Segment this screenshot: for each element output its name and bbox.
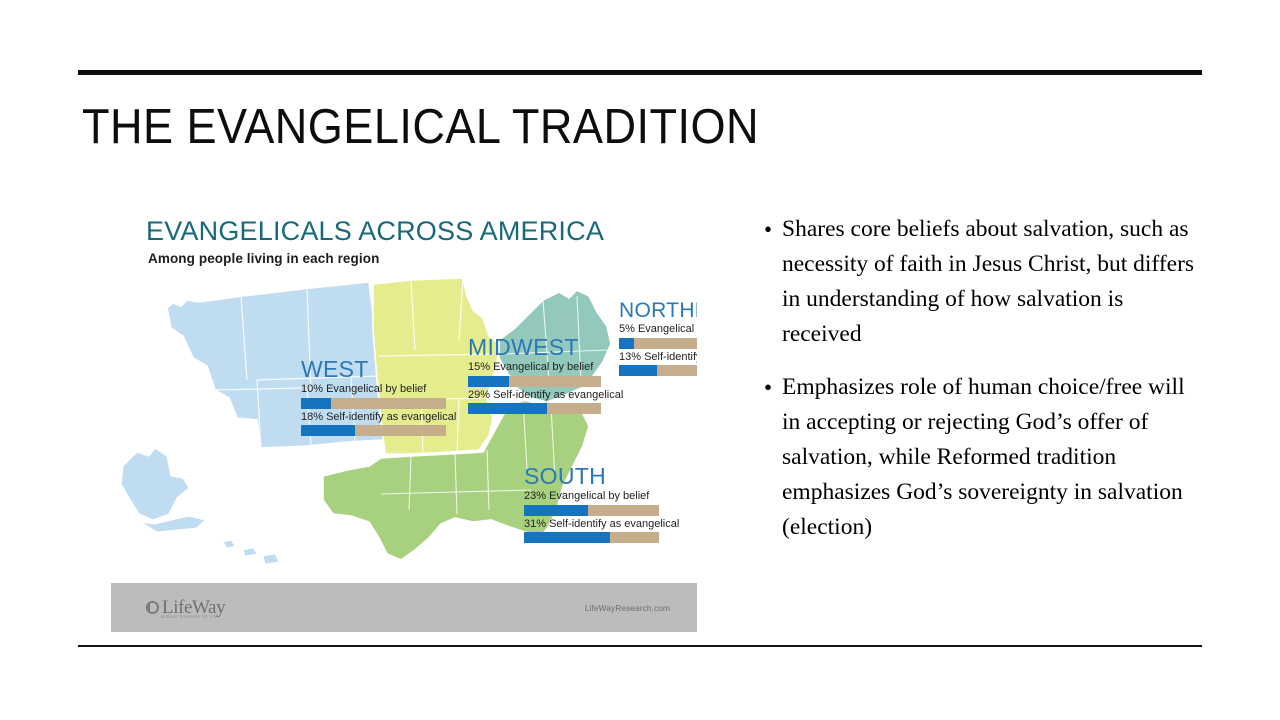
- lifeway-globe-icon: [146, 601, 159, 614]
- region-callout-west: WEST 10% Evangelical by belief 18% Self-…: [301, 358, 456, 436]
- region-name-northeast: NORTHEAST: [619, 300, 697, 321]
- region-west-stat-1-bar: [301, 425, 446, 436]
- lifeway-research-url: LifeWayResearch.com: [585, 603, 670, 613]
- region-south-stat-1-bar: [524, 532, 659, 543]
- bar-fill: [619, 338, 634, 349]
- bar-fill: [301, 398, 331, 409]
- region-south-stat-0-bar: [524, 505, 659, 516]
- region-west-stat-0-label: 10% Evangelical by belief: [301, 384, 456, 396]
- bullet-marker-icon: •: [758, 212, 782, 247]
- slide-canvas: THE EVANGELICAL TRADITION EVANGELICALS A…: [0, 0, 1280, 720]
- infographic-subtitle: Among people living in each region: [148, 251, 379, 266]
- footer-rule: [78, 645, 1202, 647]
- bullet-marker-icon: •: [758, 370, 782, 405]
- bar-fill: [468, 376, 509, 387]
- bullet-text: Shares core beliefs about salvation, suc…: [782, 212, 1198, 352]
- region-south-stat-0-label: 23% Evangelical by belief: [524, 491, 679, 503]
- region-west-stat-0-bar: [301, 398, 446, 409]
- region-midwest-stat-1-label: 29% Self-identify as evangelical: [468, 390, 623, 402]
- region-northeast-stat-0-label: 5% Evangelical by belief: [619, 324, 697, 336]
- bar-fill: [619, 365, 657, 376]
- region-name-midwest: MIDWEST: [468, 336, 623, 359]
- lifeway-tagline: Biblical Solutions for Life: [161, 614, 218, 619]
- region-callout-northeast: NORTHEAST 5% Evangelical by belief 13% S…: [619, 300, 697, 376]
- page-title: THE EVANGELICAL TRADITION: [82, 97, 1112, 159]
- infographic-image: EVANGELICALS ACROSS AMERICA Among people…: [111, 200, 697, 632]
- region-callout-midwest: MIDWEST 15% Evangelical by belief 29% Se…: [468, 336, 623, 414]
- region-name-south: SOUTH: [524, 465, 679, 488]
- region-northeast-stat-1-label: 13% Self-identify as evangelical: [619, 352, 697, 364]
- region-midwest-stat-0-bar: [468, 376, 601, 387]
- region-name-west: WEST: [301, 358, 456, 381]
- list-item: • Shares core beliefs about salvation, s…: [758, 212, 1198, 352]
- region-callout-south: SOUTH 23% Evangelical by belief 31% Self…: [524, 465, 679, 543]
- bar-fill: [468, 403, 547, 414]
- region-midwest-stat-1-bar: [468, 403, 601, 414]
- region-northeast-stat-0-bar: [619, 338, 697, 349]
- region-northeast-stat-1-bar: [619, 365, 697, 376]
- list-item: • Emphasizes role of human choice/free w…: [758, 370, 1198, 545]
- infographic-title: EVANGELICALS ACROSS AMERICA: [146, 216, 604, 247]
- bar-fill: [301, 425, 355, 436]
- region-midwest-stat-0-label: 15% Evangelical by belief: [468, 362, 623, 374]
- bar-fill: [524, 532, 610, 543]
- bullet-text: Emphasizes role of human choice/free wil…: [782, 370, 1198, 545]
- bar-fill: [524, 505, 588, 516]
- title-top-rule: [78, 70, 1202, 75]
- region-west-stat-1-label: 18% Self-identify as evangelical: [301, 412, 456, 424]
- content-body: • Shares core beliefs about salvation, s…: [758, 212, 1198, 563]
- infographic-footer: LifeWay Biblical Solutions for Life Life…: [111, 583, 697, 632]
- region-south-stat-1-label: 31% Self-identify as evangelical: [524, 519, 679, 531]
